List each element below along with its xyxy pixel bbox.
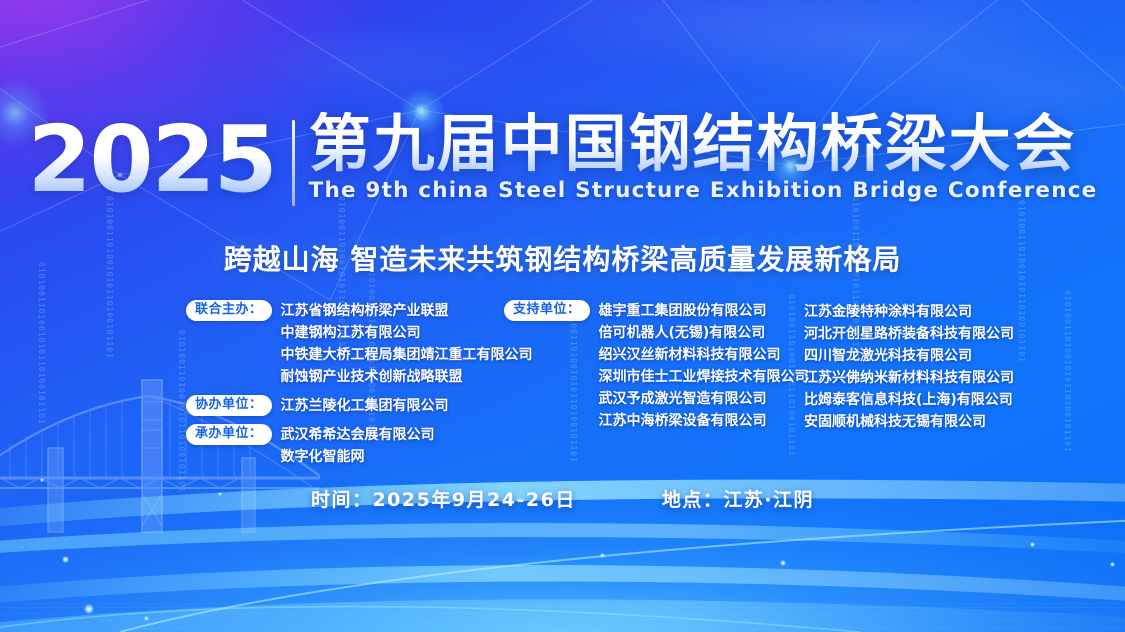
event-meta: 时间：2025年9月24-26日 地点：江苏·江阴 — [0, 485, 1125, 512]
list-item: 中铁建大桥工程局集团靖江重工有限公司 — [281, 344, 533, 366]
list-item: 武汉予成激光智造有限公司 — [599, 388, 809, 410]
co-organizers-group: 协办单位： 江苏兰陵化工集团有限公司 — [186, 395, 504, 417]
undertakers-list: 武汉希希达会展有限公司 数字化智能网 — [281, 424, 435, 468]
title-block: 第九届中国钢结构桥梁大会 The 9th china Steel Structu… — [309, 112, 1098, 203]
list-item: 安固顺机械科技无锡有限公司 — [804, 411, 1014, 433]
event-location: 地点：江苏·江阴 — [662, 485, 814, 512]
organizations-section: 联合主办： 江苏省钢结构桥梁产业联盟 中建钢构江苏有限公司 中铁建大桥工程局集团… — [186, 300, 1056, 475]
list-item: 江苏中海桥梁设备有限公司 — [599, 410, 809, 432]
supporters-list-secondary: 江苏金陵特种涂料有限公司 河北开创星路桥装备科技有限公司 四川智龙激光科技有限公… — [804, 301, 1014, 433]
list-item: 中建钢构江苏有限公司 — [281, 322, 533, 344]
year-2025: 2025 — [28, 116, 276, 204]
banner-content: 2025 第九届中国钢结构桥梁大会 The 9th china Steel St… — [0, 0, 1125, 632]
organizer-column-right: 江苏金陵特种涂料有限公司 河北开创星路桥装备科技有限公司 四川智龙激光科技有限公… — [804, 300, 1014, 433]
list-item: 武汉希希达会展有限公司 — [281, 424, 435, 446]
joint-hosts-label: 联合主办： — [186, 300, 272, 321]
joint-hosts-group: 联合主办： 江苏省钢结构桥梁产业联盟 中建钢构江苏有限公司 中铁建大桥工程局集团… — [186, 300, 504, 388]
organization-columns: 联合主办： 江苏省钢结构桥梁产业联盟 中建钢构江苏有限公司 中铁建大桥工程局集团… — [186, 300, 1056, 475]
conference-banner: 0101001101001010110100101101 01010011010… — [0, 0, 1125, 632]
list-item: 数字化智能网 — [281, 446, 435, 468]
list-item: 倍可机器人(无锡)有限公司 — [599, 322, 809, 344]
list-item: 比姆泰客信息科技(上海)有限公司 — [804, 389, 1014, 411]
joint-hosts-list: 江苏省钢结构桥梁产业联盟 中建钢构江苏有限公司 中铁建大桥工程局集团靖江重工有限… — [281, 300, 533, 388]
page-title: 第九届中国钢结构桥梁大会 — [309, 112, 1098, 176]
list-item: 四川智龙激光科技有限公司 — [804, 345, 1014, 367]
list-item: 江苏省钢结构桥梁产业联盟 — [281, 300, 533, 322]
organizer-column-left: 联合主办： 江苏省钢结构桥梁产业联盟 中建钢构江苏有限公司 中铁建大桥工程局集团… — [186, 300, 504, 475]
list-item: 江苏兴佛纳米新材料科技有限公司 — [804, 367, 1014, 389]
co-organizers-label: 协办单位： — [186, 395, 272, 416]
list-item: 绍兴汉丝新材料科技有限公司 — [599, 344, 809, 366]
organizer-column-middle: 支持单位： 雄宇重工集团股份有限公司 倍可机器人(无锡)有限公司 绍兴汉丝新材料… — [504, 300, 804, 439]
supporters-label: 支持单位： — [504, 300, 590, 321]
co-organizers-list: 江苏兰陵化工集团有限公司 — [281, 395, 449, 417]
list-item: 江苏兰陵化工集团有限公司 — [281, 395, 449, 417]
title-row: 2025 第九届中国钢结构桥梁大会 The 9th china Steel St… — [0, 112, 1125, 206]
supporters-group: 支持单位： 雄宇重工集团股份有限公司 倍可机器人(无锡)有限公司 绍兴汉丝新材料… — [504, 300, 804, 432]
list-item: 河北开创星路桥装备科技有限公司 — [804, 323, 1014, 345]
slogan: 跨越山海 智造未来共筑钢结构桥梁高质量发展新格局 — [0, 238, 1125, 278]
list-item: 雄宇重工集团股份有限公司 — [599, 300, 809, 322]
event-date: 时间：2025年9月24-26日 — [311, 485, 576, 512]
list-item: 耐蚀钢产业技术创新战略联盟 — [281, 366, 533, 388]
title-divider — [292, 120, 295, 206]
undertakers-label: 承办单位： — [186, 424, 272, 445]
page-title-english: The 9th china Steel Structure Exhibition… — [309, 178, 1098, 203]
supporters-list-primary: 雄宇重工集团股份有限公司 倍可机器人(无锡)有限公司 绍兴汉丝新材料科技有限公司… — [599, 300, 809, 432]
undertakers-group: 承办单位： 武汉希希达会展有限公司 数字化智能网 — [186, 424, 504, 468]
list-item: 江苏金陵特种涂料有限公司 — [804, 301, 1014, 323]
list-item: 深圳市佳士工业焊接技术有限公司 — [599, 366, 809, 388]
